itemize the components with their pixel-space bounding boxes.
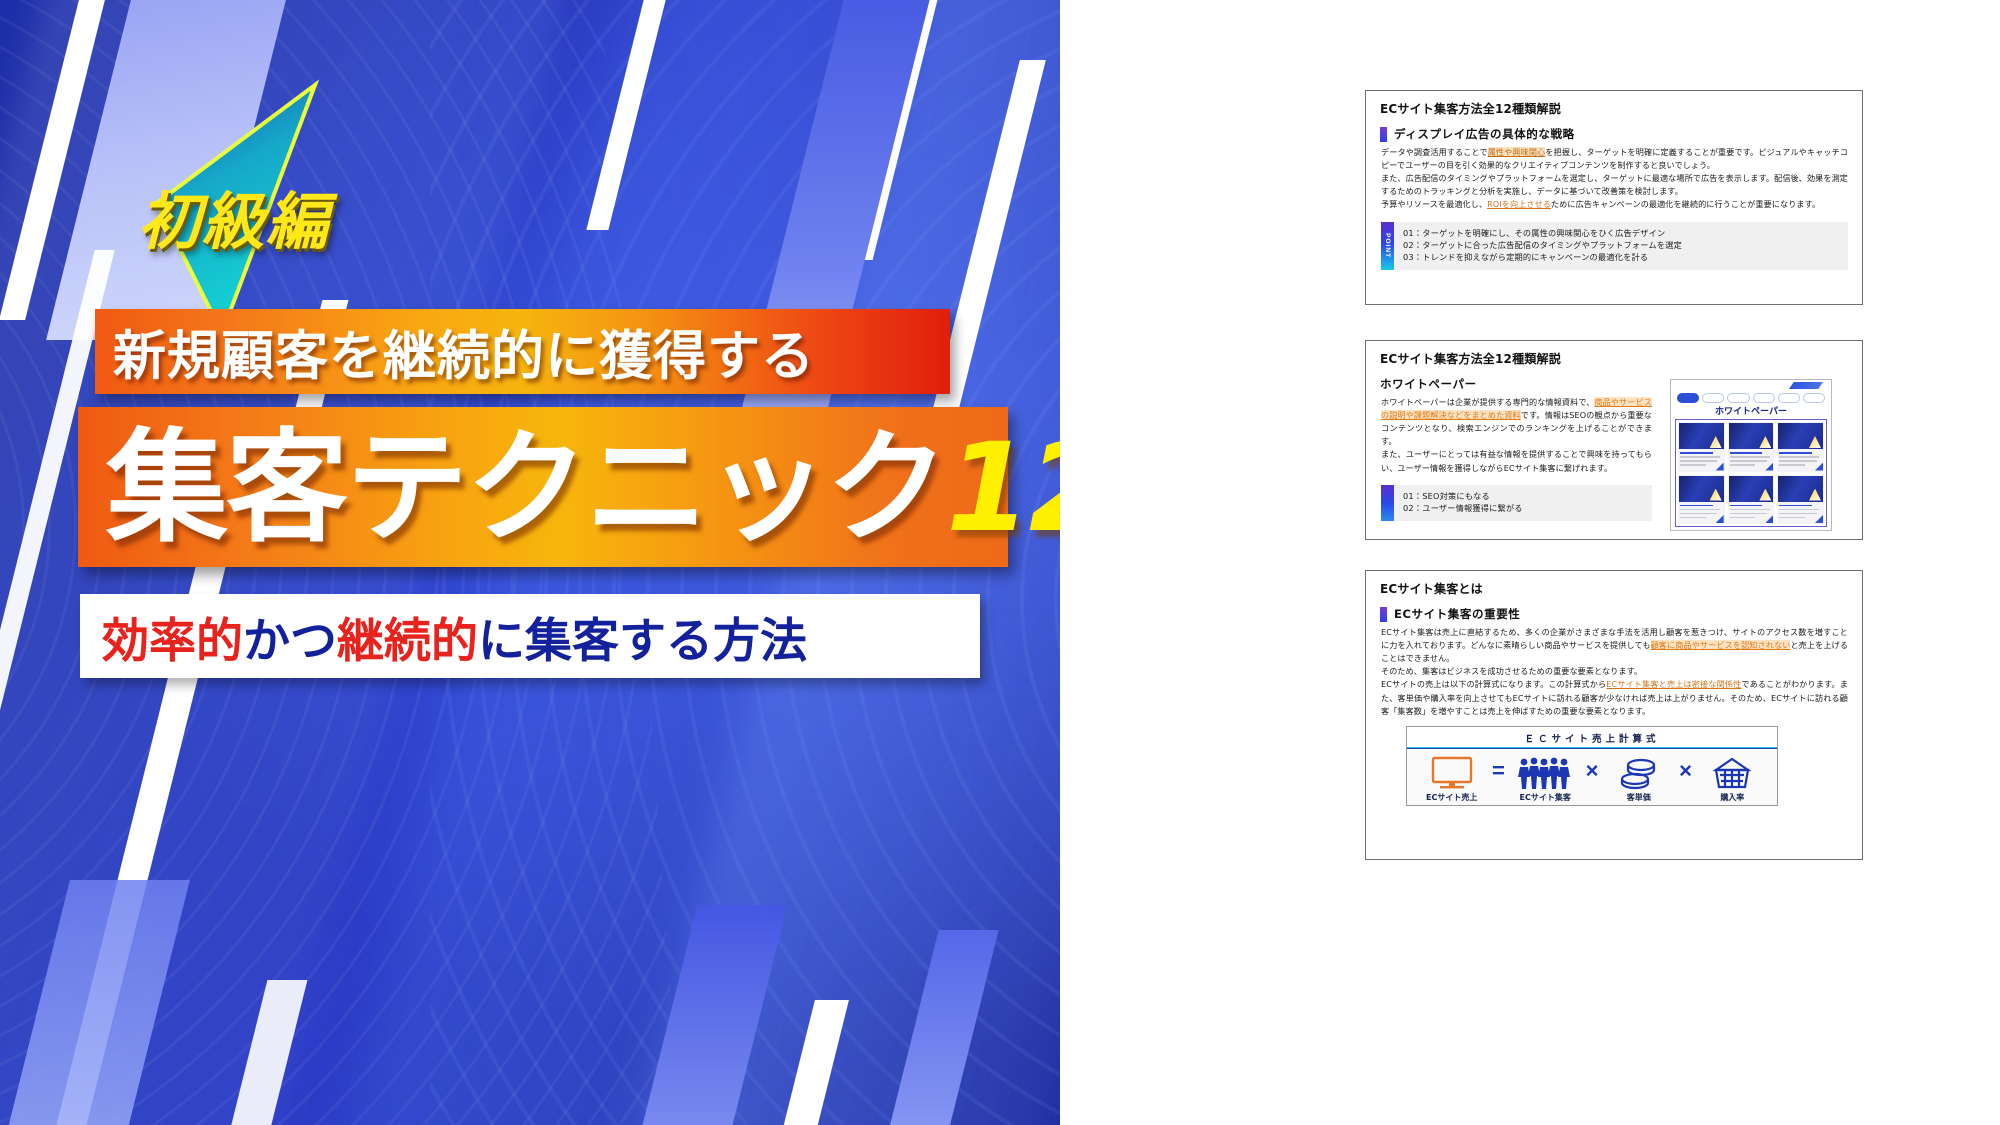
headline-band-main: 集客テクニック12選 xyxy=(78,407,1008,567)
thumb-tile-line xyxy=(1730,505,1763,507)
card1-paragraph-3: 予算やリソースを最適化し、ROIを向上させるために広告キャンペーンの最適化を継続… xyxy=(1381,198,1848,211)
thumb-tile-line xyxy=(1680,460,1717,462)
formula-operator-times-1: × xyxy=(1586,760,1599,798)
formula-label-conversion: 購入率 xyxy=(1720,792,1744,803)
card2-section-title: ホワイトペーパー xyxy=(1380,376,1477,392)
section-accent-bar-icon xyxy=(1380,607,1387,622)
card2-thumbnail-column: ホワイトペーパー xyxy=(1666,367,1862,531)
card1-point-label: POINT xyxy=(1381,222,1394,270)
monitor-icon xyxy=(1430,756,1474,790)
decor-blue-bar-bottom-right xyxy=(871,930,998,1125)
thumb-tile-corner-icon xyxy=(1716,515,1724,523)
card2-paragraph-2: また、ユーザーにとっては有益な情報を提供することで興味を持ってもらい、ユーザー情… xyxy=(1381,448,1652,474)
slide-card-what-is-ec-attraction[interactable]: ECサイト集客とは ECサイト集客の重要性 ECサイト集客は売上に直結するため、… xyxy=(1365,570,1863,860)
card1-paragraph-2: また、広告配信のタイミングやプラットフォームを選定し、ターゲットに最適な場所で広… xyxy=(1381,172,1848,198)
headline-main-lead: 集客テクニック xyxy=(106,417,946,559)
decor-white-bar-bottom-mid xyxy=(765,1000,849,1125)
sub-plain-2: に集客する方法 xyxy=(478,614,807,669)
thumb-pill xyxy=(1702,393,1724,403)
decor-blue-bar-bottom-left xyxy=(0,880,190,1125)
slide-card-display-ads[interactable]: ECサイト集客方法全12種類解説 ディスプレイ広告の具体的な戦略 データや調査活… xyxy=(1365,90,1863,305)
thumb-tile-corner-icon xyxy=(1765,515,1773,523)
card3-section-header: ECサイト集客の重要性 xyxy=(1380,606,1862,622)
card3-paragraph-2: そのため、集客はビジネスを成功させるための重要な要素となります。 xyxy=(1381,665,1848,678)
thumb-tile-line xyxy=(1779,517,1805,519)
thumb-tile-line xyxy=(1779,509,1819,511)
card3-paragraph-1: ECサイト集客は売上に直結するため、多くの企業がさまざまな手法を活用し顧客を惹き… xyxy=(1381,626,1848,665)
thumb-logo-icon xyxy=(1789,382,1823,389)
thumb-pill xyxy=(1727,393,1749,403)
slide-card-whitepaper[interactable]: ECサイト集客方法全12種類解説 ホワイトペーパー ホワイトペーパーは企業が提供… xyxy=(1365,340,1863,540)
card1-point-list: 01：ターゲットを明確にし、その属性の興味関心をひく広告デザイン 02：ターゲッ… xyxy=(1394,222,1848,270)
card1-point-box: POINT 01：ターゲットを明確にし、その属性の興味関心をひく広告デザイン 0… xyxy=(1381,222,1848,270)
formula-operator-times-2: × xyxy=(1679,760,1692,798)
formula-item-sales: ECサイト売上 xyxy=(1415,756,1489,803)
card2-point-accent-icon xyxy=(1381,485,1394,521)
formula-label-sales: ECサイト売上 xyxy=(1426,792,1477,803)
formula-row: ECサイト売上 = ECサ xyxy=(1407,749,1777,805)
thumb-tile-line xyxy=(1680,464,1706,466)
thumb-tile-grid xyxy=(1675,419,1827,527)
headline-band-primary: 新規顧客を継続的に獲得する xyxy=(95,309,950,394)
thumb-heading: ホワイトペーパー xyxy=(1671,404,1831,417)
thumb-tile-line xyxy=(1730,456,1770,458)
card1-point-item: 01：ターゲットを明確にし、その属性の興味関心をひく広告デザイン xyxy=(1403,227,1842,239)
thumb-tile-corner-icon xyxy=(1765,463,1773,471)
thumb-tile-corner-icon xyxy=(1815,463,1823,471)
thumb-tile-line xyxy=(1730,452,1763,454)
level-badge: 初級編 xyxy=(110,75,440,340)
formula-label-avg-price: 客単価 xyxy=(1627,792,1651,803)
thumb-tile-line xyxy=(1779,464,1805,466)
headline-band-primary-text: 新規顧客を継続的に獲得する xyxy=(113,314,815,390)
thumb-tile-line xyxy=(1680,513,1717,515)
thumb-tile xyxy=(1777,422,1824,472)
card2-point-item: 02：ユーザー情報獲得に繋がる xyxy=(1403,502,1646,514)
thumb-tile xyxy=(1728,422,1775,472)
headline-main-number: 12 xyxy=(946,417,1060,559)
card2-point-box: 01：SEO対策にもなる 02：ユーザー情報獲得に繋がる xyxy=(1381,485,1652,521)
sub-emphasis-2: 継続的 xyxy=(337,614,478,669)
headline-band-main-text: 集客テクニック12選 xyxy=(106,413,1060,572)
thumb-tile-corner-icon xyxy=(1815,515,1823,523)
slide-card-list: ECサイト集客方法全12種類解説 ディスプレイ広告の具体的な戦略 データや調査活… xyxy=(1365,0,1865,1125)
thumb-nav-pills xyxy=(1677,393,1825,401)
thumb-tile-image xyxy=(1729,476,1774,502)
formula-label-visitors: ECサイト集客 xyxy=(1520,792,1571,803)
thumb-tile-image xyxy=(1729,423,1774,449)
thumb-tile-line xyxy=(1779,460,1816,462)
thumb-tile-line xyxy=(1680,505,1713,507)
card2-text-column: ホワイトペーパー ホワイトペーパーは企業が提供する専門的な情報資料で、商品やサー… xyxy=(1366,367,1666,531)
thumb-tile-line xyxy=(1779,513,1816,515)
card2-title: ECサイト集客方法全12種類解説 xyxy=(1366,341,1862,367)
thumb-tile-image xyxy=(1679,476,1724,502)
formula-heading: ＥＣサイト売上計算式 xyxy=(1407,727,1777,749)
thumb-tile-image xyxy=(1679,423,1724,449)
thumb-tile-line xyxy=(1730,513,1767,515)
thumb-tile-line xyxy=(1680,509,1720,511)
formula-operator-equals: = xyxy=(1492,760,1505,798)
formula-item-avg-price: 客単価 xyxy=(1602,756,1676,803)
card1-section-title: ディスプレイ広告の具体的な戦略 xyxy=(1394,126,1575,142)
card1-section-header: ディスプレイ広告の具体的な戦略 xyxy=(1380,126,1862,142)
level-badge-label: 初級編 xyxy=(138,171,438,261)
card3-title: ECサイト集客とは xyxy=(1366,571,1862,597)
section-accent-bar-icon xyxy=(1380,127,1387,142)
hero-panel: 初級編 新規顧客を継続的に獲得する 集客テクニック12選 効率的かつ継続的に集客… xyxy=(0,0,1060,1125)
thumb-pill xyxy=(1677,393,1699,403)
thumb-tile-line xyxy=(1730,517,1756,519)
formula-item-conversion: 購入率 xyxy=(1695,756,1769,803)
thumb-tile-line xyxy=(1730,460,1767,462)
thumb-tile xyxy=(1728,475,1775,525)
coins-icon xyxy=(1617,756,1661,790)
decor-blue-bar-bottom-mid xyxy=(623,905,788,1125)
thumb-tile-line xyxy=(1730,509,1770,511)
formula-item-visitors: ECサイト集客 xyxy=(1508,756,1582,803)
thumb-tile-line xyxy=(1779,505,1812,507)
card3-section-title: ECサイト集客の重要性 xyxy=(1394,606,1520,622)
thumb-tile-line xyxy=(1779,456,1819,458)
sub-emphasis-1: 効率的 xyxy=(102,614,243,669)
headline-band-sub-text: 効率的かつ継続的に集客する方法 xyxy=(102,602,807,671)
thumb-pill xyxy=(1778,393,1800,403)
thumb-tile-line xyxy=(1680,456,1720,458)
card1-title: ECサイト集客方法全12種類解説 xyxy=(1366,91,1862,117)
thumb-tile-line xyxy=(1680,517,1706,519)
thumb-pill xyxy=(1803,393,1825,403)
decor-white-bar-bottom-left xyxy=(213,980,308,1125)
whitepaper-gallery-thumbnail-icon: ホワイトペーパー xyxy=(1670,379,1832,531)
thumb-tile xyxy=(1678,475,1725,525)
thumb-tile-image xyxy=(1778,476,1823,502)
ec-sales-formula-box: ＥＣサイト売上計算式 ECサイト売上 = xyxy=(1406,726,1778,806)
card3-paragraph-3: ECサイトの売上は以下の計算式になります。この計算式からECサイト集客と売上は密… xyxy=(1381,678,1848,717)
card1-point-item: 02：ターゲットに合った広告配信のタイミングやプラットフォームを選定 xyxy=(1403,239,1842,251)
card2-point-item: 01：SEO対策にもなる xyxy=(1403,490,1646,502)
card2-section-header: ホワイトペーパー xyxy=(1380,376,1666,392)
card1-paragraph-1: データや調査活用することで属性や興味関心を把握し、ターゲットを明確に定義すること… xyxy=(1381,146,1848,172)
thumb-tile-image xyxy=(1778,423,1823,449)
thumb-pill xyxy=(1753,393,1775,403)
card1-point-item: 03：トレンドを抑えながら定期的にキャンペーンの最適化を計る xyxy=(1403,251,1842,263)
card2-body: ホワイトペーパー ホワイトペーパーは企業が提供する専門的な情報資料で、商品やサー… xyxy=(1366,367,1862,531)
slide-thumbnail-page: 初級編 新規顧客を継続的に獲得する 集客テクニック12選 効率的かつ継続的に集客… xyxy=(0,0,2000,1125)
thumb-tile-line xyxy=(1680,452,1713,454)
thumb-tile xyxy=(1777,475,1824,525)
card2-paragraph-1: ホワイトペーパーは企業が提供する専門的な情報資料で、商品やサービスの説明や課題解… xyxy=(1381,396,1652,448)
thumb-tile xyxy=(1678,422,1725,472)
thumb-tile-line xyxy=(1779,452,1812,454)
card2-point-list: 01：SEO対策にもなる 02：ユーザー情報獲得に繋がる xyxy=(1394,485,1652,521)
thumb-tile-line xyxy=(1730,464,1756,466)
people-group-icon xyxy=(1518,756,1572,790)
headline-band-sub: 効率的かつ継続的に集客する方法 xyxy=(80,594,980,678)
decor-white-bar-5 xyxy=(586,0,675,230)
thumb-tile-corner-icon xyxy=(1716,463,1724,471)
sub-plain-1: かつ xyxy=(243,614,337,669)
shopping-basket-icon xyxy=(1710,756,1754,790)
